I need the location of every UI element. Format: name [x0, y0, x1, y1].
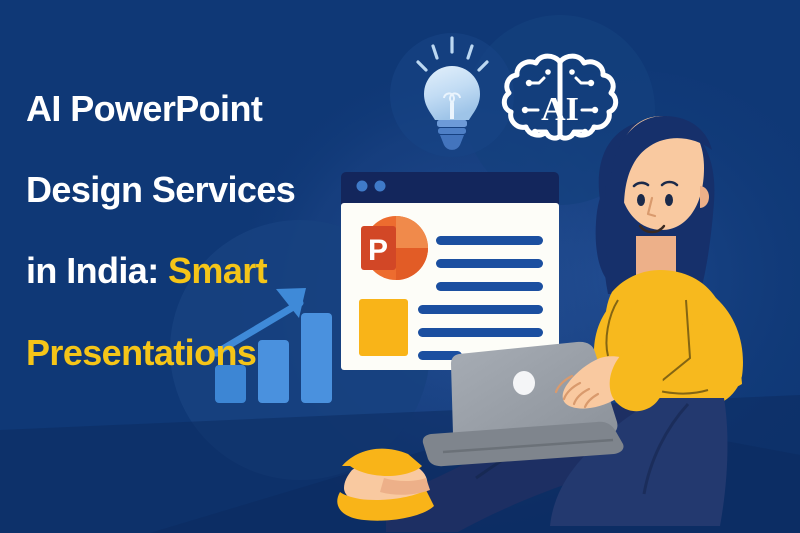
window-text-line-3: [436, 282, 543, 291]
laptop-logo: [513, 371, 535, 395]
lightbulb-icon: [418, 38, 487, 150]
window-text-line-1: [436, 236, 543, 245]
window-text-line-5: [418, 328, 543, 337]
window-dot-2: [375, 181, 386, 192]
headline-line-3: in India: Smart: [26, 251, 366, 292]
headline-line-3-accent: Smart: [168, 250, 267, 291]
headline-line-1: AI PowerPoint: [26, 89, 366, 130]
window-text-line-2: [436, 259, 543, 268]
yellow-placeholder-block: [359, 299, 408, 356]
woman-eye-left: [637, 194, 645, 206]
window-titlebar-fill: [341, 190, 559, 204]
slide-window-icon: P: [341, 172, 559, 370]
lightbulb-screw: [440, 135, 464, 150]
lightbulb-base-2: [438, 128, 466, 134]
banner-graphic: AI PowerPoint Design Services in India: …: [0, 0, 800, 533]
woman-foot-sandal: [337, 449, 434, 521]
ppt-letter: P: [368, 234, 388, 267]
headline-line-4: Presentations: [26, 333, 366, 374]
headline-line-3-plain: in India:: [26, 250, 159, 291]
woman-eye-right: [665, 194, 673, 206]
headline-line-2: Design Services: [26, 170, 366, 211]
lightbulb-rays: [418, 38, 487, 70]
headline-title: AI PowerPoint Design Services in India: …: [26, 48, 366, 414]
ai-brain-label: AI: [541, 91, 579, 128]
lightbulb-base-1: [437, 120, 467, 127]
window-text-line-4: [418, 305, 543, 314]
